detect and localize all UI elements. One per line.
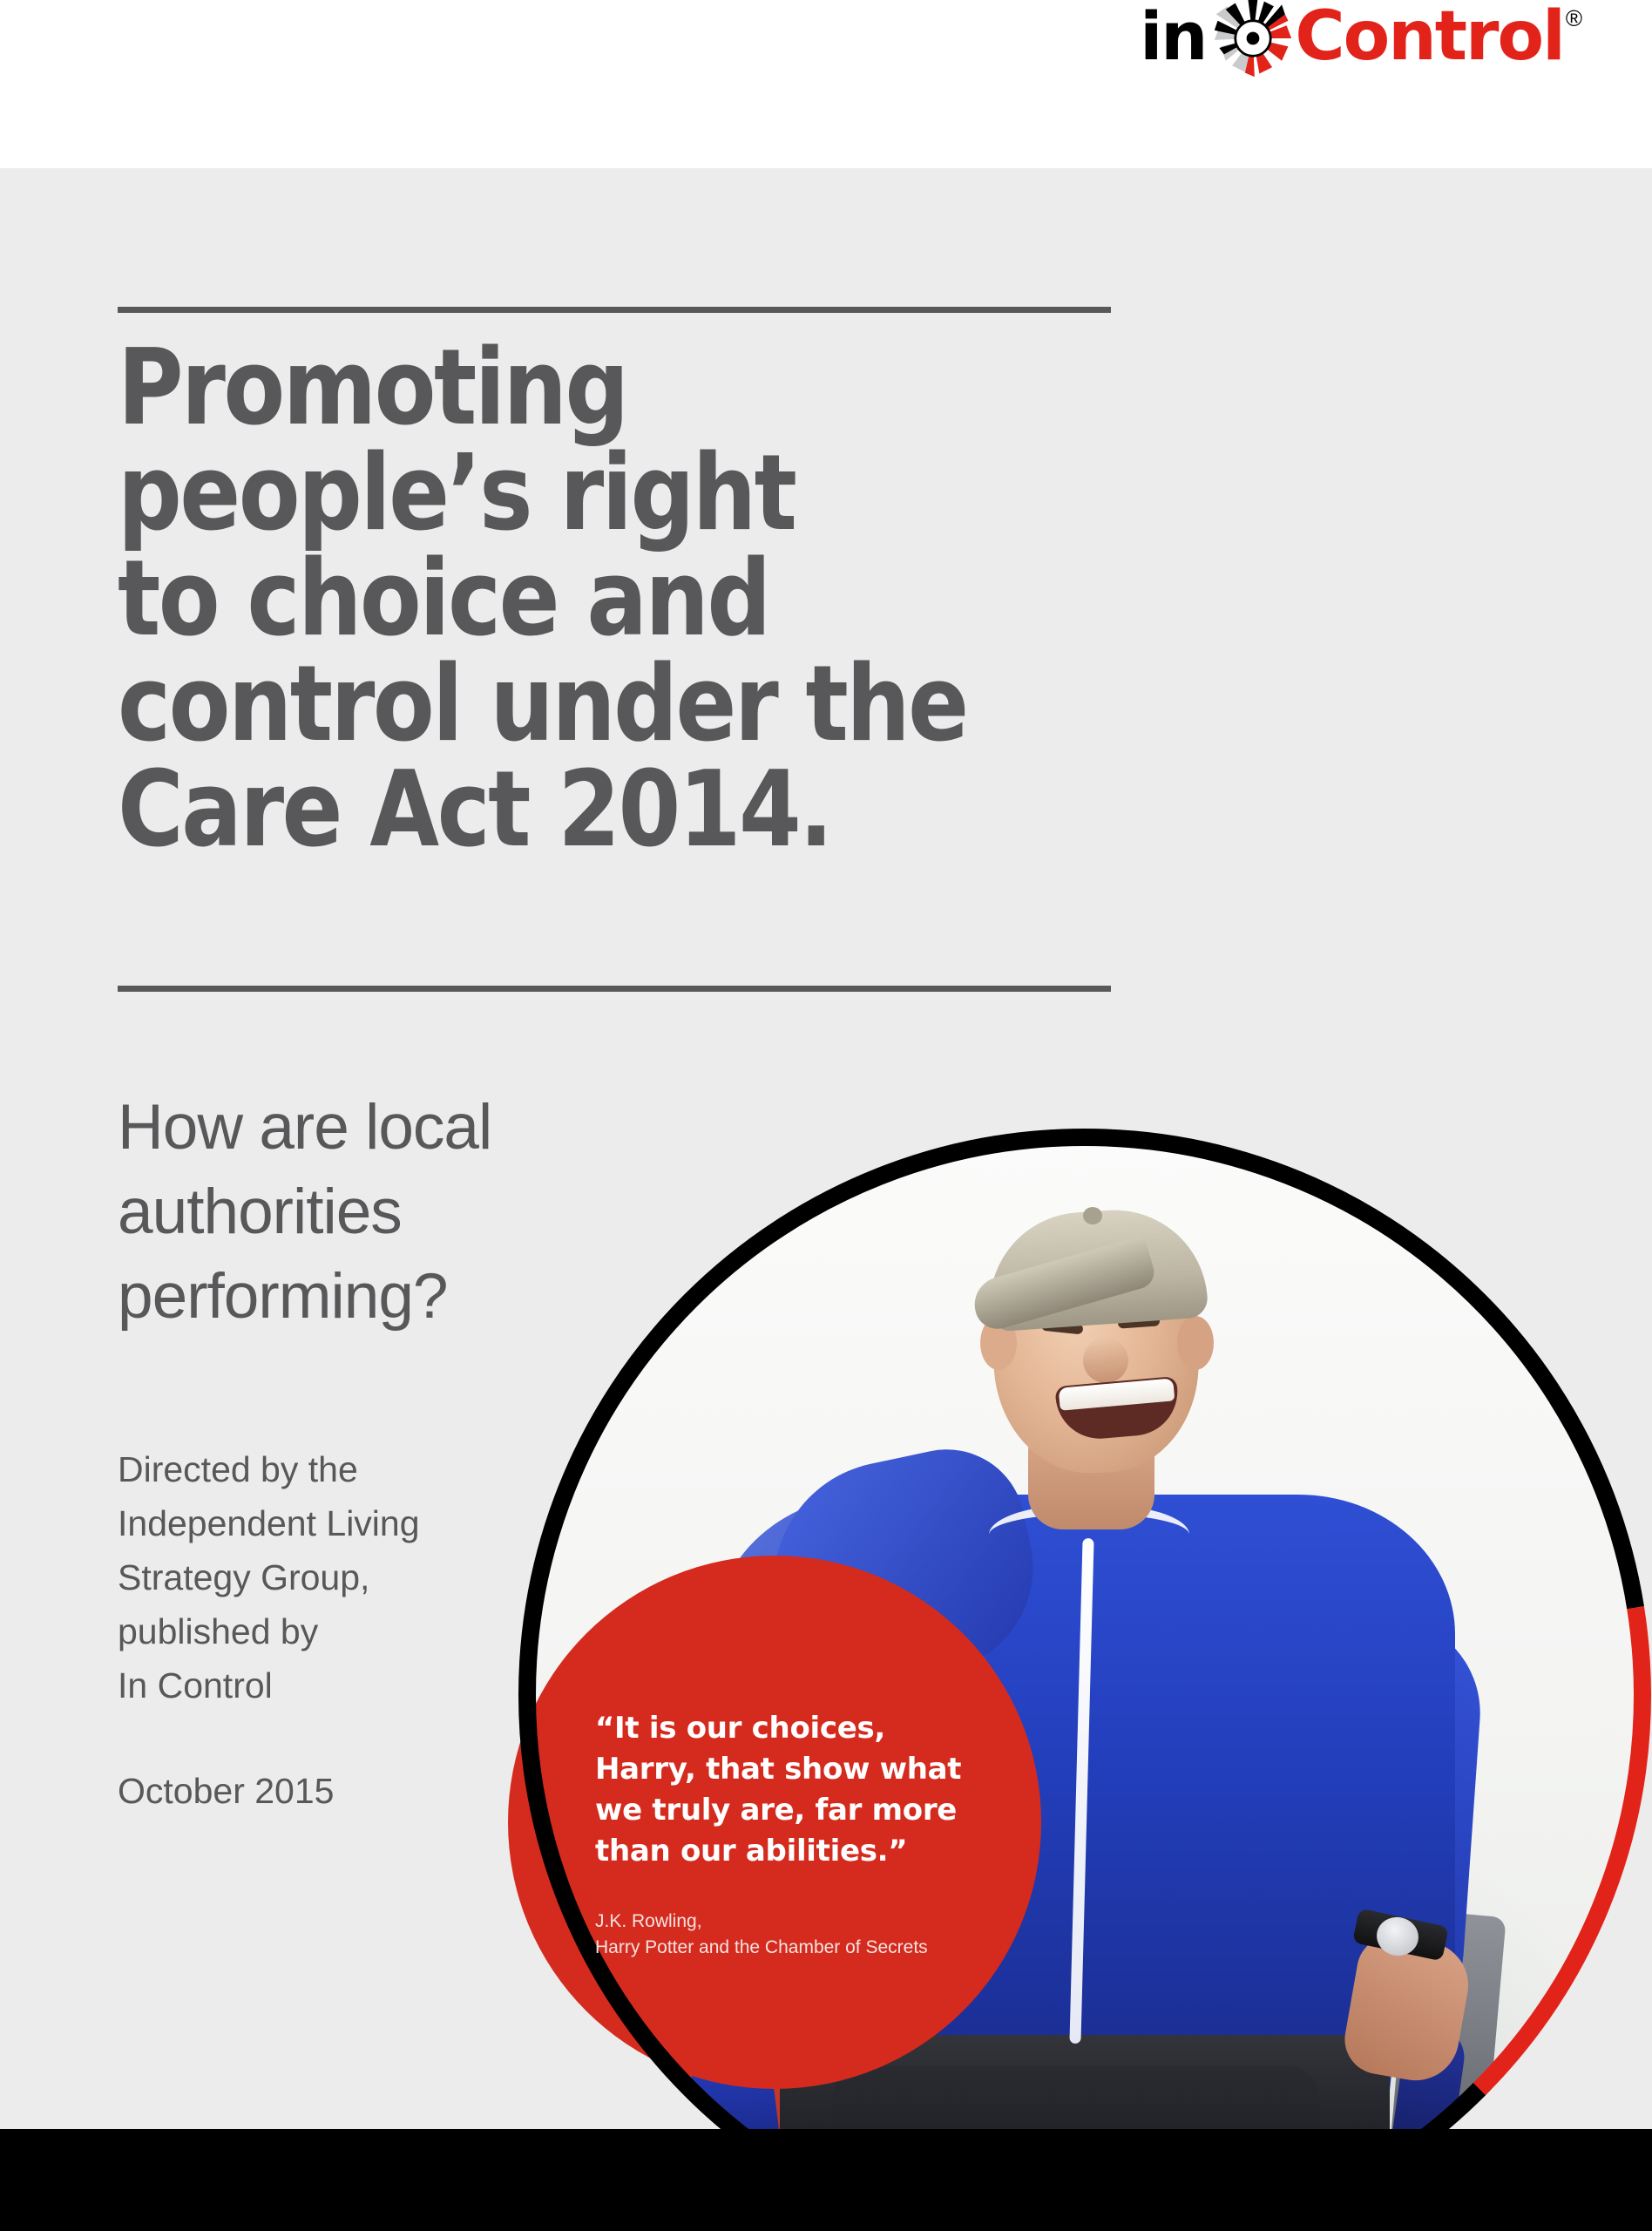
title-rule-top	[118, 307, 1111, 313]
registered-trademark-icon: ®	[1566, 5, 1582, 32]
document-cover-page: “It is our choices, Harry, that show wha…	[0, 0, 1652, 2231]
title-rule-bottom	[118, 986, 1111, 992]
person-ear-right	[1177, 1316, 1214, 1370]
in-control-logo[interactable]: in	[1140, 3, 1582, 73]
publication-date: October 2015	[118, 1769, 334, 1813]
sunburst-icon	[1213, 0, 1293, 78]
page-title: Promoting people’s right to choice and c…	[118, 336, 1002, 863]
quote-line: we truly are, far more	[595, 1790, 1057, 1831]
credit-line: Independent Living	[118, 1496, 606, 1550]
credit-line: published by	[118, 1604, 606, 1658]
quote-line: “It is our choices,	[595, 1708, 1057, 1749]
publication-credits: Directed by the Independent Living Strat…	[118, 1442, 606, 1712]
quote-source: Harry Potter and the Chamber of Secrets	[595, 1935, 1048, 1961]
page-subtitle: How are local authorities performing?	[118, 1085, 780, 1339]
credit-line: Directed by the	[118, 1442, 606, 1496]
quote-author: J.K. Rowling,	[595, 1909, 1048, 1935]
subtitle-line: How are local	[118, 1085, 780, 1170]
title-line: to choice and	[118, 546, 1002, 652]
logo-word-in: in	[1140, 3, 1206, 73]
pull-quote: “It is our choices, Harry, that show wha…	[595, 1708, 1057, 1872]
credit-line: In Control	[118, 1658, 606, 1712]
header-band: in	[0, 0, 1652, 168]
title-line: Care Act 2014.	[118, 757, 1002, 863]
person-cap-button	[1083, 1207, 1102, 1224]
title-line: control under the	[118, 652, 1002, 757]
footer-bar	[0, 2129, 1652, 2231]
quote-line: Harry, that show what	[595, 1749, 1057, 1790]
credit-line: Strategy Group,	[118, 1550, 606, 1604]
title-line: Promoting	[118, 336, 1002, 441]
quote-line: than our abilities.”	[595, 1831, 1057, 1872]
subtitle-line: authorities	[118, 1170, 780, 1254]
title-line: people’s right	[118, 441, 1002, 546]
quote-attribution: J.K. Rowling, Harry Potter and the Chamb…	[595, 1909, 1048, 1961]
person-nose	[1083, 1338, 1128, 1383]
subtitle-line: performing?	[118, 1254, 780, 1339]
logo-word-control: Control	[1295, 3, 1563, 74]
